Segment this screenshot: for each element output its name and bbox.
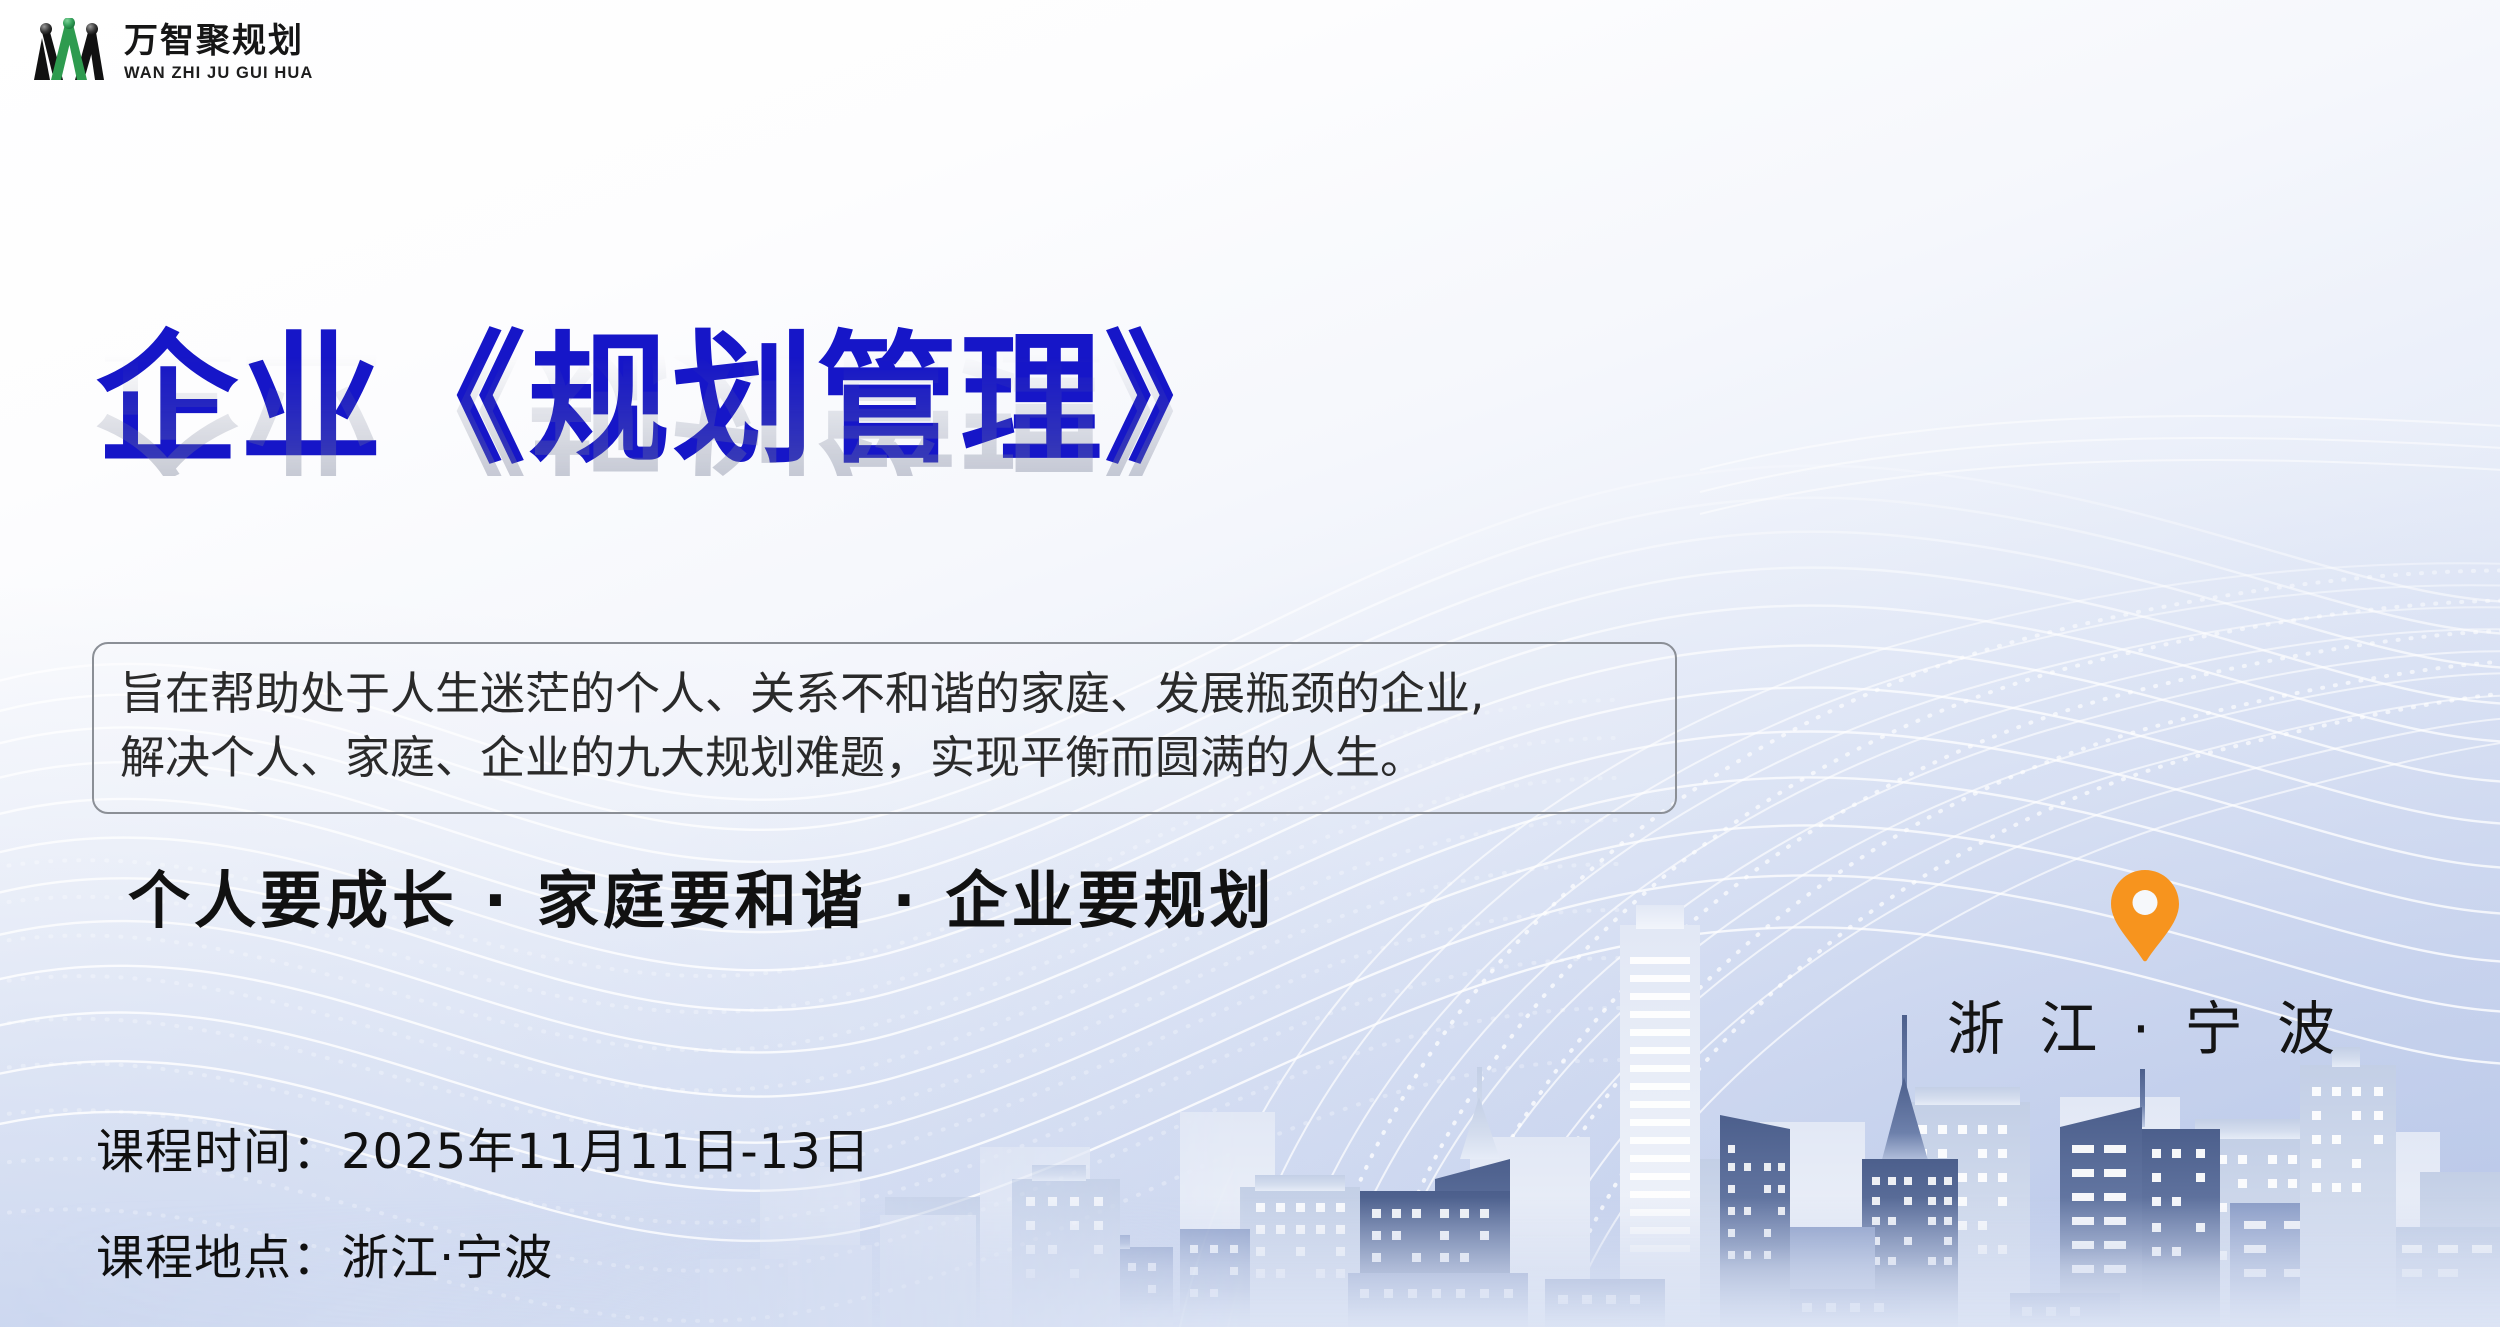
tagline: 个人要成长 · 家庭要和谐 · 企业要规划: [128, 850, 1275, 940]
course-time-line: 课程时间：2025年11月11日-13日: [96, 1112, 871, 1182]
poster-canvas: 万智聚规划 WAN ZHI JU GUI HUA 企业《规划管理》 企业《规划管…: [0, 0, 2500, 1327]
headline-block: 企业《规划管理》 企业《规划管理》: [96, 330, 1596, 608]
description-line-2: 解决个人、家庭、企业的九大规划难题，实现平衡而圆满的人生。: [120, 726, 1649, 790]
brand-name-en: WAN ZHI JU GUI HUA: [124, 65, 313, 82]
course-info-block: 课程时间：2025年11月11日-13日 课程地点：浙江·宁波: [96, 1112, 871, 1288]
description-box: 旨在帮助处于人生迷茫的个人、关系不和谐的家庭、发展瓶颈的企业, 解决个人、家庭、…: [92, 642, 1677, 814]
location-badge: 浙 江 · 宁 波: [1955, 868, 2335, 1066]
brand-name-cn: 万智聚规划: [124, 24, 313, 58]
map-pin-icon: [2110, 868, 2180, 964]
brand-text: 万智聚规划 WAN ZHI JU GUI HUA: [124, 24, 313, 82]
three-people-m-logo-icon: [30, 18, 108, 88]
course-place-line: 课程地点：浙江·宁波: [96, 1218, 871, 1288]
page-title-reflection: 企业《规划管理》: [96, 344, 1596, 476]
location-city-label: 浙 江 · 宁 波: [1947, 982, 2343, 1066]
brand-logo: 万智聚规划 WAN ZHI JU GUI HUA: [30, 18, 313, 88]
description-line-1: 旨在帮助处于人生迷茫的个人、关系不和谐的家庭、发展瓶颈的企业,: [120, 662, 1649, 726]
